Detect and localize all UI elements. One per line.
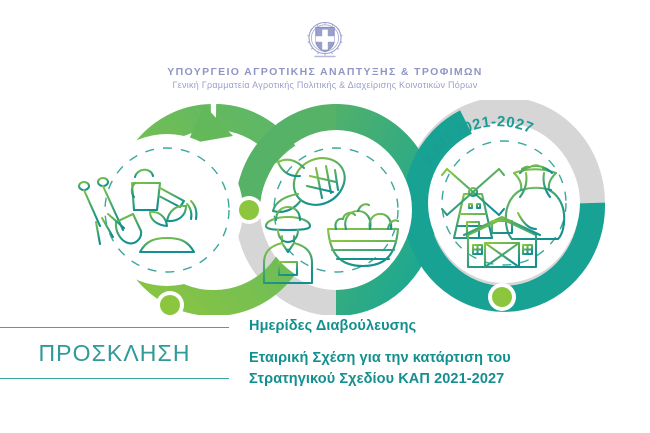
greek-coat-of-arms-icon <box>301 18 349 62</box>
ministry-header: ΥΠΟΥΡΓΕΙΟ ΑΓΡΟΤΙΚΗΣ ΑΝΑΠΤΥΞΗΣ & ΤΡΟΦΙΜΩΝ… <box>0 18 650 90</box>
invitation-label-box: ΠΡΟΣΚΛΗΣΗ <box>0 327 229 379</box>
headline-secondary-line-1: Εταιρική Σχέση για την κατάρτιση του <box>249 348 649 369</box>
ring2-inner-disc <box>260 134 412 286</box>
headline-secondary: Εταιρική Σχέση για την κατάρτιση του Στρ… <box>249 348 649 389</box>
dot-left-junction <box>235 196 263 224</box>
infinity-graphic-svg: ΚΑΠ 2021-2027 <box>36 100 626 315</box>
invitation-label: ΠΡΟΣΚΛΗΣΗ <box>38 340 190 367</box>
invitation-poster: ΥΠΟΥΡΓΕΙΟ ΑΓΡΟΤΙΚΗΣ ΑΝΑΠΤΥΞΗΣ & ΤΡΟΦΙΜΩΝ… <box>0 0 650 433</box>
secretariat-name: Γενική Γραμματεία Αγροτικής Πολιτικής & … <box>0 80 650 90</box>
headline-block: Ημερίδες Διαβούλευσης Εταιρική Σχέση για… <box>249 318 649 389</box>
headline-secondary-line-2: Στρατηγικού Σχεδίου ΚΑΠ 2021-2027 <box>249 369 649 390</box>
headline-primary: Ημερίδες Διαβούλευσης <box>249 318 649 334</box>
ministry-name: ΥΠΟΥΡΓΕΙΟ ΑΓΡΟΤΙΚΗΣ ΑΝΑΠΤΥΞΗΣ & ΤΡΟΦΙΜΩΝ <box>0 66 650 78</box>
dot-ring3-bottom <box>488 283 516 311</box>
infinity-loop-graphic: ΚΑΠ 2021-2027 <box>36 100 626 315</box>
